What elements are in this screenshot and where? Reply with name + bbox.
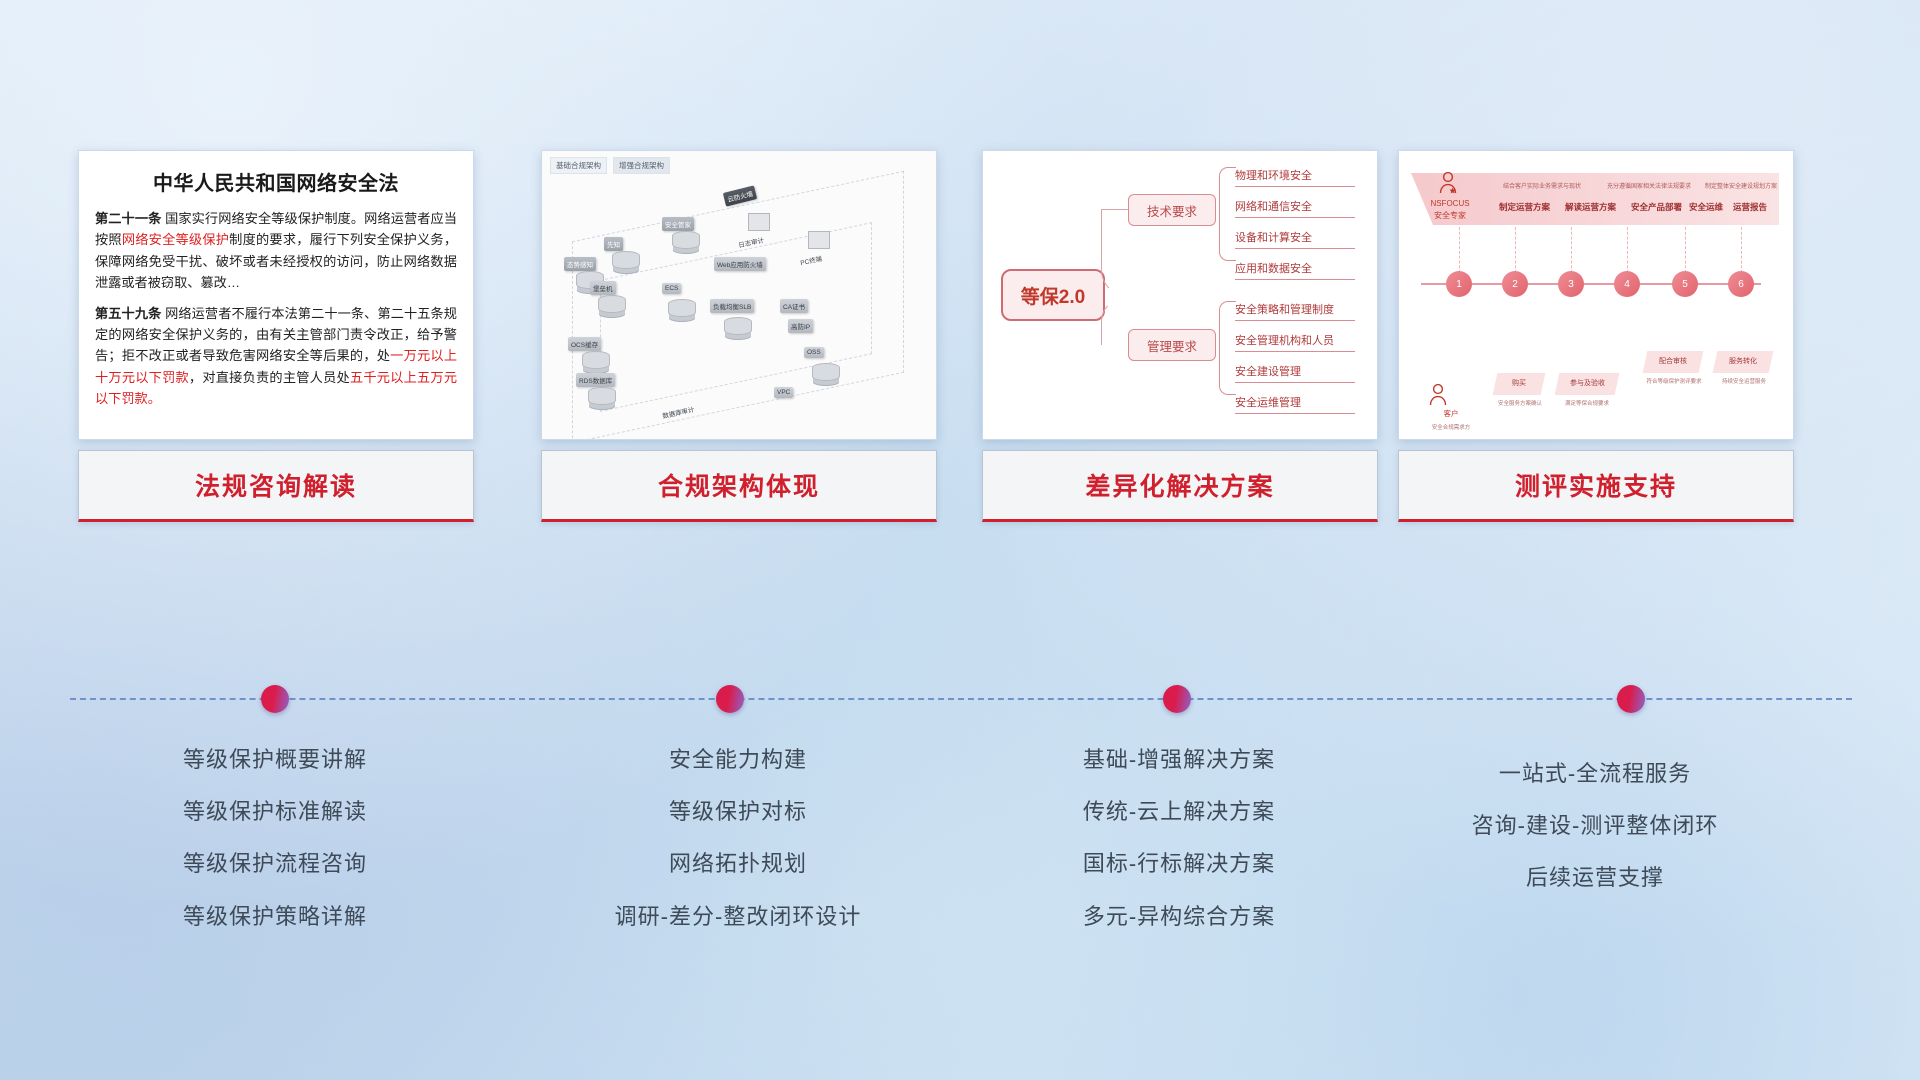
stage-title-box-1[interactable]: 法规咨询解读 <box>78 450 474 522</box>
stage-items-column-3: 基础-增强解决方案 传统-云上解决方案 国标-行标解决方案 多元-异构综合方案 <box>982 748 1376 957</box>
node-ocs-cache: OCS缓存 <box>568 337 601 351</box>
parallelogram-participate-label: 参与及验收 <box>1570 380 1605 388</box>
tick-2 <box>1515 227 1517 273</box>
stage-items-column-4: 一站式-全流程服务 咨询-建设-测评整体闭环 后续运营支撑 <box>1398 762 1792 919</box>
stage-items-list-2: 安全能力构建 等级保护对标 网络拓扑规划 调研-差分-整改闭环设计 <box>541 748 935 929</box>
mindmap-curve-technical <box>1101 209 1131 296</box>
list-item: 等级保护对标 <box>541 800 935 824</box>
node-vpc: VPC <box>774 387 793 398</box>
cyl-rds-database <box>588 387 616 405</box>
parallelogram-service: 服务转化 <box>1713 351 1774 373</box>
node-bastion-host: 堡垒机 <box>590 281 616 295</box>
list-item: 等级保护策略详解 <box>78 905 472 929</box>
card-mindmap-dengbao: 等保2.0 技术要求 管理要求 物理和环境安全 网络和通信安全 设备和计算安全 … <box>982 150 1378 440</box>
article-59-label: 第五十九条 <box>95 306 161 321</box>
expert-brand-label: NSFOCUS <box>1419 199 1481 209</box>
band-step-3: 安全产品部署 <box>1631 201 1682 213</box>
box-pc-terminal <box>808 231 830 249</box>
mindmap-branch-technical: 技术要求 <box>1128 194 1216 226</box>
band-note-2: 充分遵循国家相关法律法规要求 <box>1607 181 1691 190</box>
card-compliance-architecture: 基础合规架构 增强合规架构 云防火墙 安全管家 先知 态势感知 堡垒机 OCS缓… <box>541 150 937 440</box>
roadmap-step-dot-1: 1 <box>1446 271 1472 297</box>
tick-6 <box>1741 227 1743 273</box>
article-21-label: 第二十一条 <box>95 211 161 226</box>
law-title: 中华人民共和国网络安全法 <box>95 167 457 196</box>
roadmap-step-dot-2: 2 <box>1502 271 1528 297</box>
cyl-ecs <box>668 299 696 317</box>
stage-items-list-1: 等级保护概要讲解 等级保护标准解读 等级保护流程咨询 等级保护策略详解 <box>78 748 472 929</box>
band-note-3: 制定整体安全建设规划方案 <box>1705 181 1777 190</box>
stage-title-box-4[interactable]: 测评实施支持 <box>1398 450 1794 522</box>
tab-basic-architecture[interactable]: 基础合规架构 <box>550 157 607 174</box>
stage-title-1: 法规咨询解读 <box>195 467 357 503</box>
timeline-dot-4[interactable] <box>1617 685 1645 713</box>
cyl-oss <box>812 363 840 381</box>
law-article-59: 第五十九条 网络运营者不履行本法第二十一条、第二十五条规定的网络安全保护义务的，… <box>95 303 457 410</box>
stage-title-box-2[interactable]: 合规架构体现 <box>541 450 937 522</box>
tick-1 <box>1459 227 1461 273</box>
cyl-xianzhi <box>612 251 640 269</box>
list-item: 等级保护概要讲解 <box>78 748 472 772</box>
cyl-security-butler <box>672 231 700 249</box>
law-text-block: 中华人民共和国网络安全法 第二十一条 国家实行网络安全等级保护制度。网络运营者应… <box>79 151 473 439</box>
stage-title-2: 合规架构体现 <box>658 467 820 503</box>
law-article-21: 第二十一条 国家实行网络安全等级保护制度。网络运营者应当按照网络安全等级保护制度… <box>95 208 457 294</box>
node-rds-database: RDS数据库 <box>576 373 615 387</box>
list-item: 基础-增强解决方案 <box>982 748 1376 772</box>
timeline-dot-2[interactable] <box>716 685 744 713</box>
list-item: 安全能力构建 <box>541 748 935 772</box>
cyl-ocs-cache <box>582 351 610 369</box>
mindmap-leaf-physical-environment: 物理和环境安全 <box>1235 167 1355 187</box>
mindmap-leaf-device-computing: 设备和计算安全 <box>1235 229 1355 249</box>
band-step-5: 运营报告 <box>1733 201 1767 213</box>
node-situation-awareness: 态势感知 <box>564 257 596 271</box>
parallelogram-purchase: 购买 <box>1493 373 1546 395</box>
customer-label: 客户 <box>1421 409 1481 419</box>
band-step-1: 制定运营方案 <box>1499 201 1550 213</box>
card-cybersecurity-law: 中华人民共和国网络安全法 第二十一条 国家实行网络安全等级保护制度。网络运营者应… <box>78 150 474 440</box>
list-item: 一站式-全流程服务 <box>1398 762 1792 786</box>
mindmap-leaf-operation-mgmt: 安全运维管理 <box>1235 394 1355 414</box>
node-ca-certificate: CA证书 <box>780 299 808 313</box>
mindmap-brace-management <box>1219 301 1236 395</box>
mindmap-leaf-policy-system: 安全策略和管理制度 <box>1235 301 1355 321</box>
tick-4 <box>1627 227 1629 273</box>
list-item: 国标-行标解决方案 <box>982 852 1376 876</box>
stage-items-list-3: 基础-增强解决方案 传统-云上解决方案 国标-行标解决方案 多元-异构综合方案 <box>982 748 1376 929</box>
node-ecs: ECS <box>662 283 681 294</box>
architecture-diagram: 基础合规架构 增强合规架构 云防火墙 安全管家 先知 态势感知 堡垒机 OCS缓… <box>542 151 936 439</box>
box-log-audit <box>748 213 770 231</box>
stage-items-column-2: 安全能力构建 等级保护对标 网络拓扑规划 调研-差分-整改闭环设计 <box>541 748 935 957</box>
article-21-highlight: 网络安全等级保护 <box>122 232 229 247</box>
parallelogram-service-label: 服务转化 <box>1729 358 1757 366</box>
list-item: 调研-差分-整改闭环设计 <box>541 905 935 929</box>
roadmap-step-dot-6: 6 <box>1728 271 1754 297</box>
architecture-tabs: 基础合规架构 增强合规架构 <box>550 157 670 174</box>
timeline-dot-1[interactable] <box>261 685 289 713</box>
node-xianzhi: 先知 <box>604 237 623 251</box>
cyl-bastion-host <box>598 295 626 313</box>
customer-person-icon <box>1427 383 1449 407</box>
customer-sublabel: 安全合规需求方 <box>1419 423 1483 431</box>
list-item: 等级保护流程咨询 <box>78 852 472 876</box>
mindmap-leaf-construction-mgmt: 安全建设管理 <box>1235 363 1355 383</box>
mindmap-root-node: 等保2.0 <box>1001 269 1105 321</box>
list-item: 后续运营支撑 <box>1398 866 1792 890</box>
parallelogram-purchase-sub: 安全服务方案确认 <box>1485 399 1555 407</box>
mindmap-branch-management: 管理要求 <box>1128 329 1216 361</box>
parallelogram-audit: 配合审核 <box>1643 351 1704 373</box>
list-item: 传统-云上解决方案 <box>982 800 1376 824</box>
node-oss: OSS <box>804 347 824 358</box>
mindmap: 等保2.0 技术要求 管理要求 物理和环境安全 网络和通信安全 设备和计算安全 … <box>983 151 1377 439</box>
list-item: 多元-异构综合方案 <box>982 905 1376 929</box>
parallelogram-participate: 参与及验收 <box>1555 373 1620 395</box>
tick-5 <box>1685 227 1687 273</box>
stage-items-list-4: 一站式-全流程服务 咨询-建设-测评整体闭环 后续运营支撑 <box>1398 762 1792 891</box>
tick-3 <box>1571 227 1573 273</box>
article-59-part2: ，对直接负责的主管人员处 <box>189 370 350 385</box>
stage-title-3: 差异化解决方案 <box>1085 467 1274 503</box>
node-slb: 负载均衡SLB <box>710 299 754 313</box>
band-note-1: 结合客户实际业务需求与现状 <box>1503 181 1581 190</box>
list-item: 咨询-建设-测评整体闭环 <box>1398 814 1792 838</box>
image-card-row: 中华人民共和国网络安全法 第二十一条 国家实行网络安全等级保护制度。网络运营者应… <box>0 150 1920 450</box>
timeline-dashed-line <box>70 698 1852 700</box>
timeline-dot-3[interactable] <box>1163 685 1191 713</box>
node-waf: Web应用防火墙 <box>714 257 766 271</box>
mindmap-leaf-org-personnel: 安全管理机构和人员 <box>1235 332 1355 352</box>
tab-enhanced-architecture[interactable]: 增强合规架构 <box>613 157 670 174</box>
band-step-4: 安全运维 <box>1689 201 1723 213</box>
expert-person-icon <box>1437 171 1459 195</box>
mindmap-brace-technical <box>1219 167 1236 261</box>
mindmap-leaf-application-data: 应用和数据安全 <box>1235 260 1355 280</box>
node-high-defense-ip: 高防IP <box>788 319 813 333</box>
band-step-2: 解读运营方案 <box>1565 201 1616 213</box>
list-item: 等级保护标准解读 <box>78 800 472 824</box>
roadmap-step-dot-3: 3 <box>1558 271 1584 297</box>
expert-role-label: 安全专家 <box>1419 211 1481 221</box>
list-item: 网络拓扑规划 <box>541 852 935 876</box>
node-security-butler: 安全管家 <box>662 217 694 231</box>
parallelogram-audit-label: 配合审核 <box>1659 358 1687 366</box>
parallelogram-purchase-label: 购买 <box>1512 380 1526 388</box>
parallelogram-service-sub: 持续安全运营服务 <box>1705 377 1783 385</box>
parallelogram-audit-sub: 符合等级保护测评要求 <box>1635 377 1713 385</box>
roadmap-step-dot-4: 4 <box>1614 271 1640 297</box>
stage-title-4: 测评实施支持 <box>1515 467 1677 503</box>
stage-title-box-3[interactable]: 差异化解决方案 <box>982 450 1378 522</box>
poster-stage: 中华人民共和国网络安全法 第二十一条 国家实行网络安全等级保护制度。网络运营者应… <box>0 0 1920 1080</box>
mindmap-leaf-network-communication: 网络和通信安全 <box>1235 198 1355 218</box>
parallelogram-participate-sub: 满足等保合规要求 <box>1549 399 1625 407</box>
service-roadmap: NSFOCUS 安全专家 结合客户实际业务需求与现状 充分遵循国家相关法律法规要… <box>1399 151 1793 439</box>
card-service-roadmap: NSFOCUS 安全专家 结合客户实际业务需求与现状 充分遵循国家相关法律法规要… <box>1398 150 1794 440</box>
roadmap-step-dot-5: 5 <box>1672 271 1698 297</box>
mindmap-curve-management <box>1101 299 1131 345</box>
stage-items-column-1: 等级保护概要讲解 等级保护标准解读 等级保护流程咨询 等级保护策略详解 <box>78 748 472 957</box>
cyl-slb <box>724 317 752 335</box>
roadmap-axis <box>1421 283 1761 285</box>
